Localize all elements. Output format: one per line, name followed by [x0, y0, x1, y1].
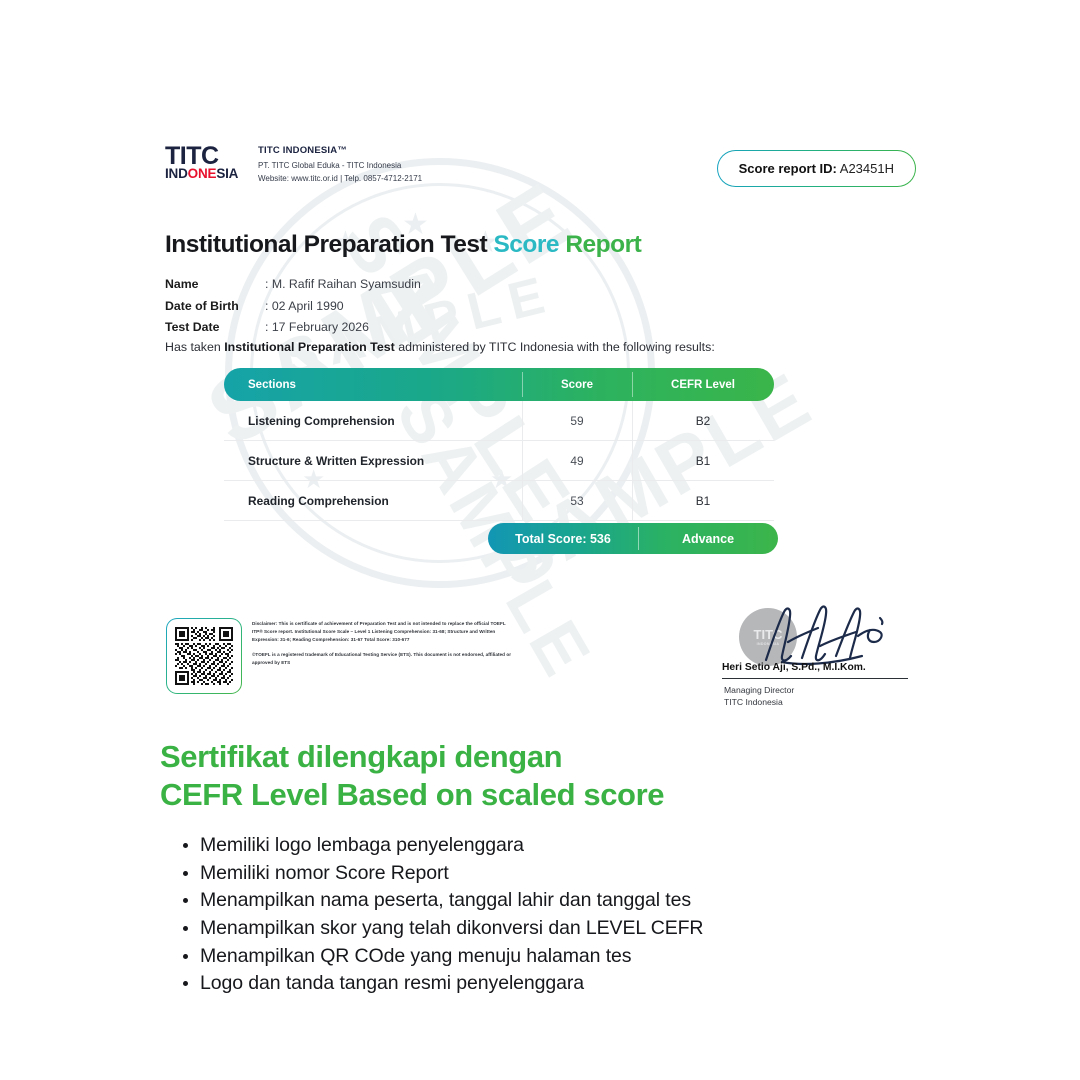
header-divider [522, 372, 523, 397]
intro-pre: Has taken [165, 340, 224, 354]
table-column-divider [632, 401, 633, 521]
org-contact: Website: www.titc.or.id | Telp. 0857-471… [258, 173, 422, 185]
table-row: Reading Comprehension 53 B1 [224, 481, 774, 521]
table-column-divider [522, 401, 523, 521]
table-row: Listening Comprehension 59 B2 [224, 401, 774, 441]
list-item: Memiliki nomor Score Report [200, 860, 980, 888]
promo-heading: Sertifikat dilengkapi dengan CEFR Level … [160, 738, 920, 815]
cell-section: Listening Comprehension [224, 414, 522, 428]
intro-post: administered by TITC Indonesia with the … [395, 340, 715, 354]
cell-score: 53 [522, 494, 632, 508]
info-label: Date of Birth [165, 298, 265, 315]
info-label: Name [165, 276, 265, 293]
title-black: Institutional Preparation Test [165, 231, 487, 258]
header-divider [632, 372, 633, 397]
handwritten-signature-icon [762, 602, 892, 668]
score-report-id-label: Score report ID: [739, 161, 837, 176]
org-name: TITC INDONESIA™ [258, 145, 422, 156]
cell-section: Structure & Written Expression [224, 454, 522, 468]
score-report-certificate: ★ ★ ★ ★ ★ SAMPLE SAMPLE SAMPLE SAMPLE SA… [150, 128, 930, 718]
column-header-cefr: CEFR Level [632, 379, 774, 391]
role-line-2: TITC Indonesia [724, 696, 794, 708]
list-item: Menampilkan nama peserta, tanggal lahir … [200, 887, 980, 915]
total-divider [638, 527, 639, 550]
cell-cefr: B2 [632, 414, 774, 428]
qr-code-icon [175, 627, 233, 685]
info-row-dob: Date of Birth : 02 April 1990 [165, 298, 421, 315]
info-value: : 02 April 1990 [265, 298, 344, 315]
scores-table: Sections Score CEFR Level Listening Comp… [224, 368, 774, 521]
logo-one: ONE [188, 166, 217, 181]
cell-section: Reading Comprehension [224, 494, 522, 508]
info-row-test-date: Test Date : 17 February 2026 [165, 319, 421, 336]
signature-rule [722, 678, 908, 679]
candidate-info: Name : M. Rafif Raihan Syamsudin Date of… [165, 276, 421, 341]
list-item: Logo dan tanda tangan resmi penyelenggar… [200, 970, 980, 998]
intro-sentence: Has taken Institutional Preparation Test… [165, 340, 715, 354]
total-cefr-level: Advance [638, 532, 778, 546]
logo-sia: SIA [216, 166, 238, 181]
score-report-id-value: A23451H [840, 161, 894, 176]
cell-cefr: B1 [632, 454, 774, 468]
document-header: TITC INDONESIA TITC INDONESIA™ PT. TITC … [165, 144, 422, 184]
promo-heading-line-1: Sertifikat dilengkapi dengan [160, 738, 920, 776]
promo-feature-list: Memiliki logo lembaga penyelenggara Memi… [174, 832, 980, 998]
role-line-1: Managing Director [724, 684, 794, 696]
cell-score: 49 [522, 454, 632, 468]
title-report: Report [565, 231, 641, 258]
table-body: Listening Comprehension 59 B2 Structure … [224, 401, 774, 521]
info-value: : 17 February 2026 [265, 319, 369, 336]
total-score-value: Total Score: 536 [488, 532, 638, 546]
list-item: Menampilkan skor yang telah dikonversi d… [200, 915, 980, 943]
disclaimer-block: Disclaimer: This is certificate of achie… [252, 620, 512, 666]
qr-code-container[interactable] [166, 618, 242, 694]
page-title: Institutional Preparation Test Score Rep… [165, 231, 641, 259]
org-legal: PT. TITC Global Eduka - TITC Indonesia [258, 160, 422, 172]
org-info: TITC INDONESIA™ PT. TITC Global Eduka - … [258, 144, 422, 184]
info-label: Test Date [165, 319, 265, 336]
column-header-score: Score [522, 379, 632, 391]
title-score: Score [493, 231, 559, 258]
logo-indonesia-text: INDONESIA [165, 167, 247, 181]
list-item: Menampilkan QR COde yang menuju halaman … [200, 943, 980, 971]
info-value: : M. Rafif Raihan Syamsudin [265, 276, 421, 293]
column-header-sections: Sections [224, 379, 522, 391]
intro-bold: Institutional Preparation Test [224, 340, 395, 354]
total-score-bar: Total Score: 536 Advance [488, 523, 778, 554]
list-item: Memiliki logo lembaga penyelenggara [200, 832, 980, 860]
signatory-role: Managing Director TITC Indonesia [724, 684, 794, 709]
titc-logo: TITC INDONESIA [165, 144, 247, 181]
cell-cefr: B1 [632, 494, 774, 508]
score-report-id-badge: Score report ID: A23451H [717, 150, 916, 187]
disclaimer-paragraph-1: Disclaimer: This is certificate of achie… [252, 620, 512, 644]
logo-ind: IND [165, 166, 188, 181]
table-header-row: Sections Score CEFR Level [224, 368, 774, 401]
table-row: Structure & Written Expression 49 B1 [224, 441, 774, 481]
cell-score: 59 [522, 414, 632, 428]
signatory-name: Heri Setio Aji, S.Pd., M.I.Kom. [722, 662, 918, 673]
disclaimer-paragraph-2: ©TOEFL is a registered trademark of Educ… [252, 651, 512, 667]
promo-heading-line-2: CEFR Level Based on scaled score [160, 776, 920, 814]
info-row-name: Name : M. Rafif Raihan Syamsudin [165, 276, 421, 293]
